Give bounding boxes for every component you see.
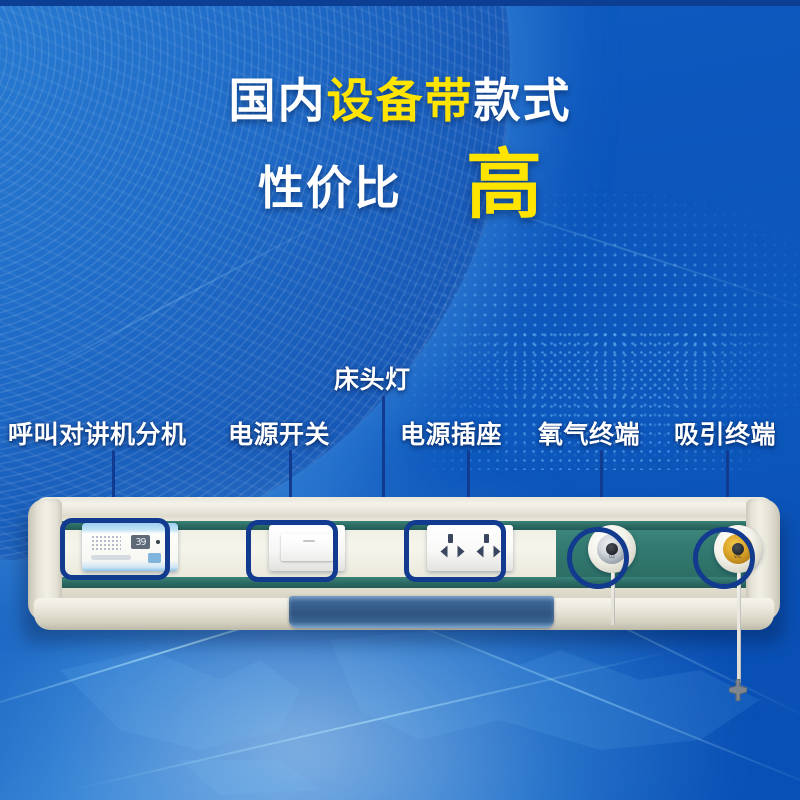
highlight-box-intercom — [60, 518, 170, 580]
highlight-box-power-switch — [246, 520, 338, 582]
callout-label-suction-terminal: 吸引终端 — [674, 415, 776, 451]
headline-line1-white-prefix: 国内 — [229, 74, 327, 129]
callout-label-oxygen-terminal: 氧气终端 — [538, 415, 640, 451]
callout-label-power-switch: 电源开关 — [228, 415, 330, 451]
highlight-circle-oxygen-terminal — [567, 527, 629, 589]
highlight-circle-suction-terminal — [693, 527, 755, 589]
headline-line-1: 国内设备带款式 — [0, 78, 800, 125]
suction-pull-cord — [737, 573, 741, 683]
callout-label-power-outlet: 电源插座 — [400, 415, 502, 451]
pull-cord-weight-icon[interactable] — [729, 679, 747, 701]
headline-line2-white: 性价比 — [258, 152, 402, 218]
callout-label-intercom: 呼叫对讲机分机 — [8, 415, 187, 451]
poster-canvas: 国内设备带款式 性价比 高 呼叫对讲机分机 电源开关 床头灯 电源插座 氧气终端… — [0, 0, 800, 800]
headline-line1-yellow: 设备带 — [327, 74, 474, 129]
headline-block: 国内设备带款式 性价比 高 — [0, 78, 800, 219]
highlight-box-power-outlet — [404, 520, 506, 582]
headline-line1-white-suffix: 款式 — [474, 74, 572, 129]
headline-line2-yellow: 高 — [466, 151, 542, 219]
headline-line-2: 性价比 高 — [0, 151, 800, 219]
callout-label-bedside-lamp: 床头灯 — [334, 360, 411, 396]
bedside-lamp-cover[interactable] — [289, 596, 554, 628]
